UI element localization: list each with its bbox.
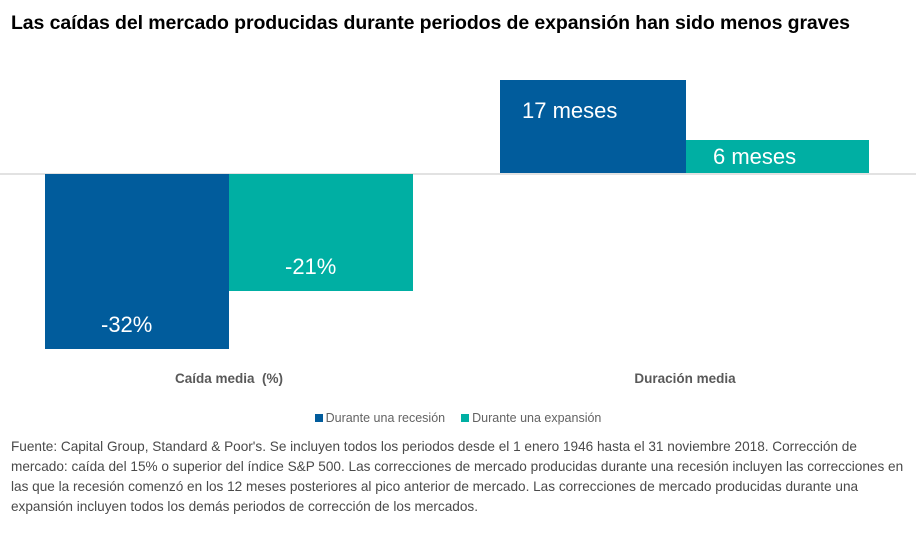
page-title: Las caídas del mercado producidas durant… [11,10,861,36]
legend-swatch-icon-recesion [315,414,323,422]
bar-label-duracion-expansion: 6 meses [713,146,796,168]
chart-figure: Las caídas del mercado producidas durant… [0,0,916,534]
bar-label-caida-expansion: -21% [285,256,336,278]
bar-duracion-recesion[interactable]: 17 meses [500,80,686,173]
bar-caida-recesion[interactable]: -32% [45,174,229,349]
legend-label-recesion: Durante una recesión [326,412,446,425]
bar-duracion-expansion[interactable]: 6 meses [686,140,869,173]
bar-label-caida-recesion: -32% [101,314,152,336]
plot-area: 17 meses 6 meses -32% -21% [0,62,916,362]
bar-label-duracion-recesion: 17 meses [522,100,617,122]
chart-legend: Durante una recesión Durante una expansi… [0,408,916,428]
legend-label-expansion: Durante una expansión [472,412,601,425]
legend-item-recesion[interactable]: Durante una recesión [315,412,446,425]
source-footnote: Fuente: Capital Group, Standard & Poor's… [11,437,905,517]
legend-swatch-icon-expansion [461,414,469,422]
bar-caida-expansion[interactable]: -21% [229,174,413,291]
legend-item-expansion[interactable]: Durante una expansión [461,412,601,425]
category-label-duracion-media: Duración media [505,371,865,386]
category-label-caida-media: Caída media (%) [49,371,409,386]
